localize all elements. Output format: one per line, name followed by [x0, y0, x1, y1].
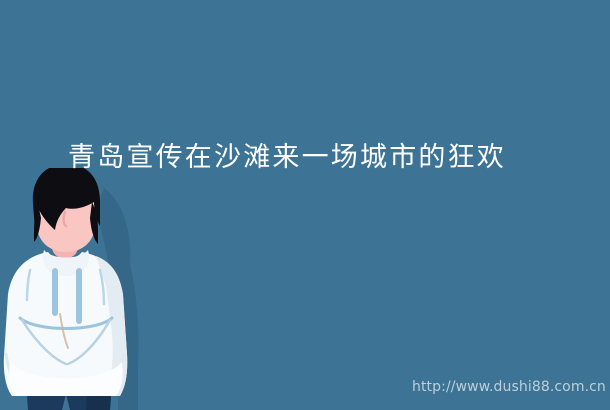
- watermark-url: http://www.dushi88.com.cn: [412, 379, 606, 395]
- drawstring-right: [76, 268, 82, 324]
- banner-image: 青岛宣传在沙滩来一场城市的狂欢 http://www.dushi88.com.c…: [0, 0, 610, 410]
- drawstring-left: [52, 268, 58, 316]
- person-illustration: [0, 168, 175, 410]
- person-in-white-hoodie-icon: [0, 168, 175, 410]
- page-title: 青岛宣传在沙滩来一场城市的狂欢: [68, 141, 568, 175]
